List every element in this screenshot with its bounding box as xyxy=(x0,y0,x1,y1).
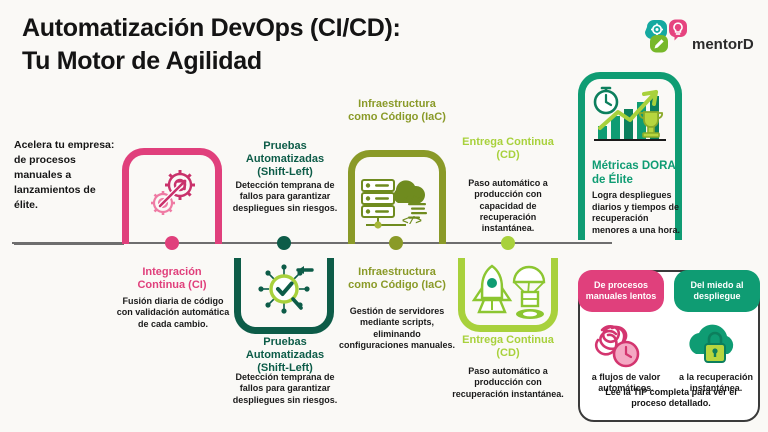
stage-cd-description-above: Paso automático a producción con capacid… xyxy=(456,178,560,234)
cloud-lock-icon xyxy=(676,318,752,372)
stage-testing-description: Detección temprana de fallos para garant… xyxy=(226,372,344,406)
svg-text:</>: </> xyxy=(402,216,422,228)
stage-testing-description-above: Detección temprana de fallos para garant… xyxy=(232,180,338,214)
cta-card[interactable]: De procesos manuales lentos Del miedo al… xyxy=(578,270,760,422)
lightbulb-bubble-icon xyxy=(669,20,687,41)
cta-chip-left: De procesos manuales lentos xyxy=(578,270,664,312)
stage-cd-title: Entrega Continua (CD) xyxy=(452,334,564,360)
dora-description: Logra despliegues diarios y tiempos de r… xyxy=(592,190,684,237)
infographic-canvas: Automatización DevOps (CI/CD): Tu Motor … xyxy=(0,0,768,432)
logo-wordmark: mentorDay xyxy=(692,36,754,53)
timeline-axis xyxy=(12,242,612,244)
dora-title: Métricas DORA de Élite xyxy=(592,160,684,188)
stopwatch-chart-trophy-icon xyxy=(586,82,678,148)
stage-cd-title-above: Entrega Continua (CD) xyxy=(460,136,556,162)
timeline-dot-testing xyxy=(277,236,291,250)
stage-iac-title-above: Infraestructura como Código (IaC) xyxy=(344,98,450,124)
title-line-1: Automatización DevOps (CI/CD): xyxy=(22,14,401,42)
logo-wordmark-day: Day xyxy=(743,36,754,53)
magnifier-check-circuit-icon xyxy=(250,258,318,320)
timeline-dot-cd xyxy=(501,236,515,250)
stage-iac-description: Gestión de servidores mediante scripts, … xyxy=(338,306,456,351)
stage-ci-title: Integración Continua (CI) xyxy=(120,266,224,292)
mentorday-logo: mentorDay xyxy=(644,18,754,62)
intro-text: Acelera tu empresa: de procesos manuales… xyxy=(14,138,122,213)
cta-footer: Lee la TIP completa para ver el proceso … xyxy=(588,387,754,410)
stage-iac-title: Infraestructura como Código (IaC) xyxy=(342,266,452,292)
server-cloud-code-icon: </> </> xyxy=(356,160,438,236)
stage-cd-description: Paso automático a producción con recuper… xyxy=(450,366,566,400)
cta-chip-right: Del miedo al despliegue xyxy=(674,270,760,312)
svg-text:</>: </> xyxy=(402,195,422,207)
stage-ci-description: Fusión diaria de código con validación a… xyxy=(114,296,232,330)
page-title: Automatización DevOps (CI/CD): Tu Motor … xyxy=(22,12,642,77)
title-line-2: Tu Motor de Agilidad xyxy=(22,45,642,78)
rocket-parachute-icon xyxy=(466,258,550,324)
stage-testing-title: Pruebas Automatizadas (Shift-Left) xyxy=(232,336,338,376)
pencil-bubble-icon xyxy=(650,35,668,53)
stage-testing-title-above: Pruebas Automatizadas (Shift-Left) xyxy=(234,140,336,180)
tangled-knot-clock-icon xyxy=(586,318,662,372)
logo-wordmark-mentor: mentor xyxy=(692,36,743,53)
gears-arrow-icon xyxy=(140,162,204,226)
